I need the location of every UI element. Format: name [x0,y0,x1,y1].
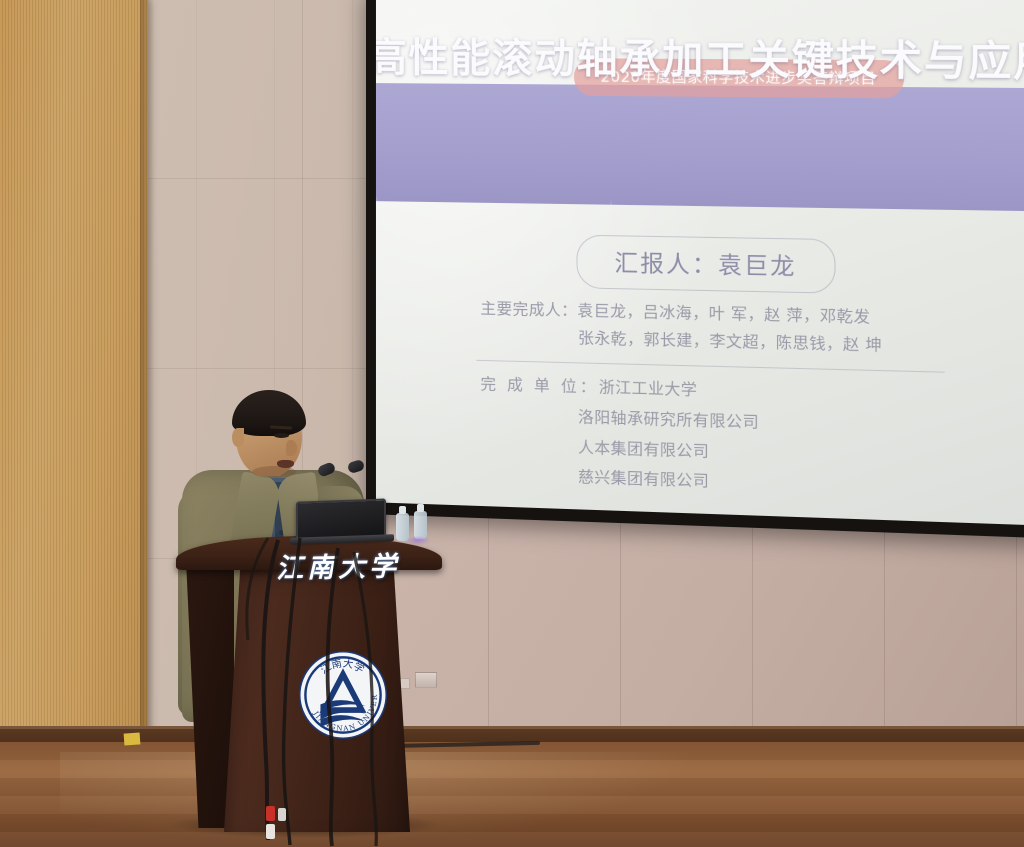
university-emblem-icon: 江南大学 JIANGNAN UNIVERSITY [296,648,390,742]
speaker-ear [232,428,244,447]
organizations-label: 完 成 单 位： [480,375,598,396]
wall-switch-plate[interactable] [415,672,437,688]
audio-connector-red [266,806,275,821]
podium-indicator-light [406,536,430,545]
organization-item-0: 浙江工业大学 [599,378,698,399]
wood-column-edge-shadow [140,0,154,762]
speaker-chin-shadow [252,466,296,478]
floor-marker-tape [124,732,141,745]
slide-contributors: 主要完成人：袁巨龙，吕冰海，叶 军，赵 萍，邓乾发 张永乾，郭长建，李文超，陈思… [480,295,970,362]
speaker-mouth [277,460,294,468]
water-bottle-icon [414,511,427,539]
speaker-nose [286,440,297,456]
speaker-eye [274,433,289,438]
audio-connector-grey [278,808,286,821]
podium-university-script: 江南大学 [276,544,447,587]
slide-presenter-pill: 汇报人：袁巨龙 [576,235,835,294]
presentation-slide: 2020年度国家科学技术进步奖答辩项目 高性能滚动轴承加工关键技术与应用 汇报人… [376,0,1024,526]
baseboard-highlight [0,726,1024,729]
slide-title: 高性能滚动轴承加工关键技术与应用 [376,0,1024,119]
slide-organizations: 完 成 单 位：浙江工业大学 洛阳轴承研究所有限公司 人本集团有限公司 慈兴集团… [480,370,970,506]
audio-connector-white [266,824,275,839]
presentation-photo-scene: 2020年度国家科学技术进步奖答辩项目 高性能滚动轴承加工关键技术与应用 汇报人… [0,0,1024,847]
wood-wall-column [0,0,148,760]
projection-screen: 2020年度国家科学技术进步奖答辩项目 高性能滚动轴承加工关键技术与应用 汇报人… [366,0,1024,539]
projection-screen-surface: 2020年度国家科学技术进步奖答辩项目 高性能滚动轴承加工关键技术与应用 汇报人… [376,0,1024,526]
